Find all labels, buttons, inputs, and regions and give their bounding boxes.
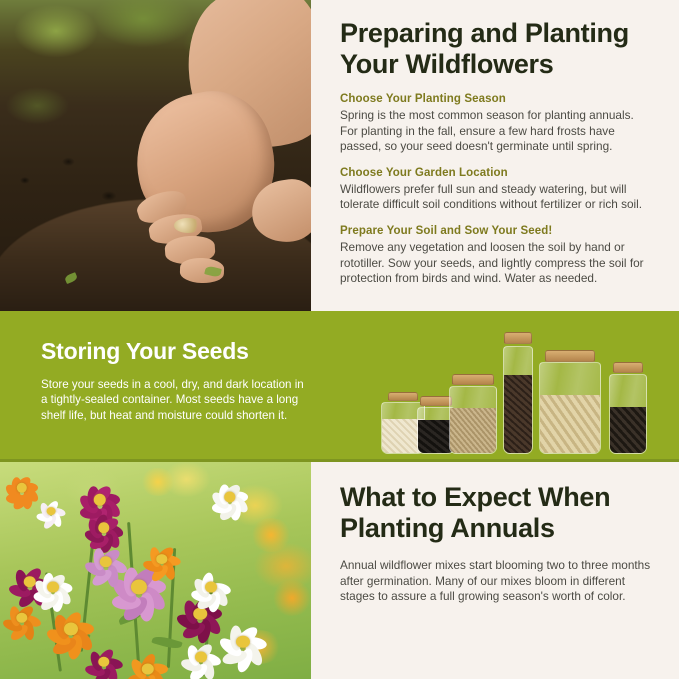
cork-lid-icon [388,392,418,401]
subhead-garden-location: Choose Your Garden Location [340,166,653,181]
white-cosmos-flower [34,496,68,526]
white-cosmos-flower [178,636,224,678]
orange-cosmos-flower [0,598,44,638]
cork-lid-icon [613,362,643,373]
seed-jars-photo [375,318,675,462]
white-cosmos-flower [208,476,252,518]
pink-cosmos-flower [82,540,130,584]
cork-lid-icon [504,332,532,344]
section-title-what-to-expect: What to Expect When Planting Annuals [340,482,651,544]
magenta-cosmos-flower [82,642,126,679]
subhead-planting-season: Choose Your Planting Season [340,92,653,107]
flower-center [47,582,59,593]
infographic-page: Preparing and Planting Your Wildflowers … [0,0,679,679]
green-text-column: Storing Your Seeds Store your seeds in a… [0,311,330,462]
hands-planting-seeds-photo [0,0,311,311]
page-title-preparing: Preparing and Planting Your Wildflowers [340,18,653,80]
white-cosmos-flower [188,566,234,608]
jar-pumpkin-seeds [539,350,601,454]
body-what-to-expect: Annual wildflower mixes start blooming t… [340,558,651,605]
blurred-bloom [250,518,292,552]
flower-center [47,507,56,515]
orange-cosmos-flower [140,540,184,578]
orange-cosmos-flower [124,648,172,679]
body-garden-location: Wildflowers prefer full sun and steady w… [340,182,653,213]
jar-tall-dark-seeds [503,332,533,454]
section-what-to-expect: What to Expect When Planting Annuals Ann… [0,462,679,679]
cork-lid-icon [452,374,494,385]
top-text-column: Preparing and Planting Your Wildflowers … [311,0,679,311]
blurred-bloom [140,468,176,496]
jar-tan-seeds [449,374,497,454]
subhead-prepare-soil: Prepare Your Soil and Sow Your Seed! [340,224,653,239]
cork-lid-icon [420,396,452,406]
jar-sunflower-seeds [609,362,647,454]
section-preparing-and-planting: Preparing and Planting Your Wildflowers … [0,0,679,311]
body-storing: Store your seeds in a cool, dry, and dar… [41,377,312,423]
bottom-text-column: What to Expect When Planting Annuals Ann… [311,462,679,679]
flower-center [205,582,217,593]
body-planting-season: Spring is the most common season for pla… [340,108,653,155]
flower-center [195,652,207,663]
white-cosmos-flower [216,618,270,666]
blurred-bloom [272,580,311,616]
wildflowers-photo [0,462,311,679]
flower-center [64,623,78,636]
flower-center [193,608,207,620]
section-title-storing: Storing Your Seeds [41,338,312,365]
body-prepare-soil: Remove any vegetation and loosen the soi… [340,240,653,287]
cork-lid-icon [545,350,595,362]
